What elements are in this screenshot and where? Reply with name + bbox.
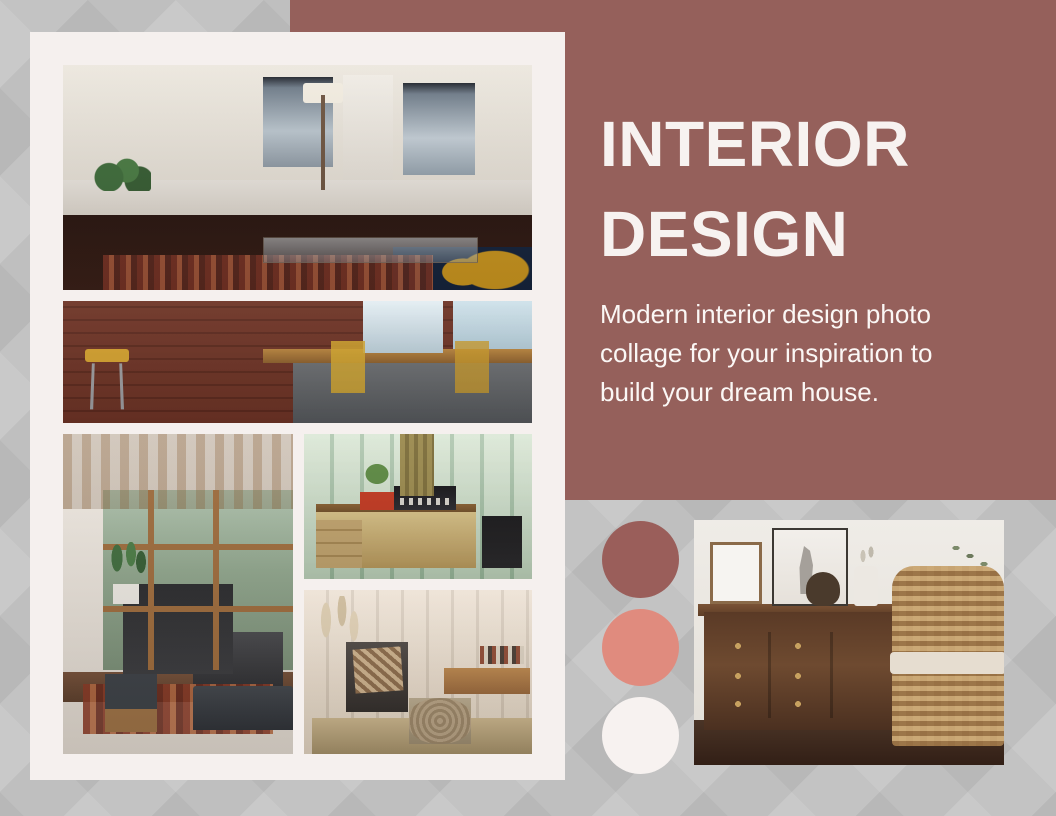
headline-line-1: INTERIOR [600, 100, 1020, 190]
dining-window [363, 301, 443, 353]
floor-lamp-shade [303, 83, 343, 103]
dresser-drawer-handles [708, 632, 890, 718]
photo-dresser-rattan[interactable] [694, 520, 1004, 765]
photo-grid [63, 65, 532, 747]
page-title: INTERIOR DESIGN [600, 100, 1020, 279]
glass-coffee-table [263, 237, 478, 263]
bear-figurine [806, 572, 840, 606]
area-rug [103, 255, 433, 290]
photo-brick-dining[interactable] [63, 301, 532, 423]
dining-chair-right [455, 341, 489, 393]
color-palette [602, 521, 679, 774]
photo-living-room[interactable] [63, 65, 532, 290]
photo-collage-card [30, 32, 565, 780]
headline-line-2: DESIGN [600, 190, 1020, 280]
round-ottoman [409, 698, 471, 744]
swatch-cream[interactable] [602, 697, 679, 774]
poster-canvas: INTERIOR DESIGN Modern interior design p… [0, 0, 1056, 816]
yellow-stool-seat [85, 349, 129, 362]
credenza-drawers [316, 520, 362, 568]
window-mullions [103, 490, 293, 670]
shelf-books [480, 646, 524, 664]
photo-reading-nook[interactable] [304, 590, 532, 754]
plant-pot [113, 584, 139, 604]
stereo-dials [400, 498, 450, 505]
swatch-maroon[interactable] [602, 521, 679, 598]
wooden-lounge-chair [105, 674, 157, 732]
swatch-salmon[interactable] [602, 609, 679, 686]
photo-grid-right-column [304, 434, 532, 754]
photo-grid-row-2 [63, 301, 532, 423]
stool-legs [90, 363, 124, 409]
red-vase-plant [360, 462, 394, 510]
description-text: Modern interior design photo collage for… [600, 295, 945, 412]
fiddle-leaf-plant [105, 542, 149, 588]
window-curtain [400, 434, 434, 496]
pampas-grass [312, 596, 366, 706]
ceramic-vase [854, 566, 878, 606]
photo-credenza[interactable] [304, 434, 532, 579]
photo-cabin-fireplace[interactable] [63, 434, 293, 754]
photo-grid-row-3 [63, 434, 532, 754]
rattan-seat-cushion [890, 652, 1004, 674]
dining-chair-left [331, 341, 365, 393]
framed-art-small [710, 542, 762, 604]
woven-pillow [353, 646, 404, 693]
photo-grid-row-1 [63, 65, 532, 290]
floor-lamp-stand [321, 95, 325, 190]
wall-branch-decor [946, 538, 994, 574]
patterned-rug [83, 684, 273, 734]
grey-sofa [193, 686, 293, 730]
potted-plant [91, 157, 151, 191]
